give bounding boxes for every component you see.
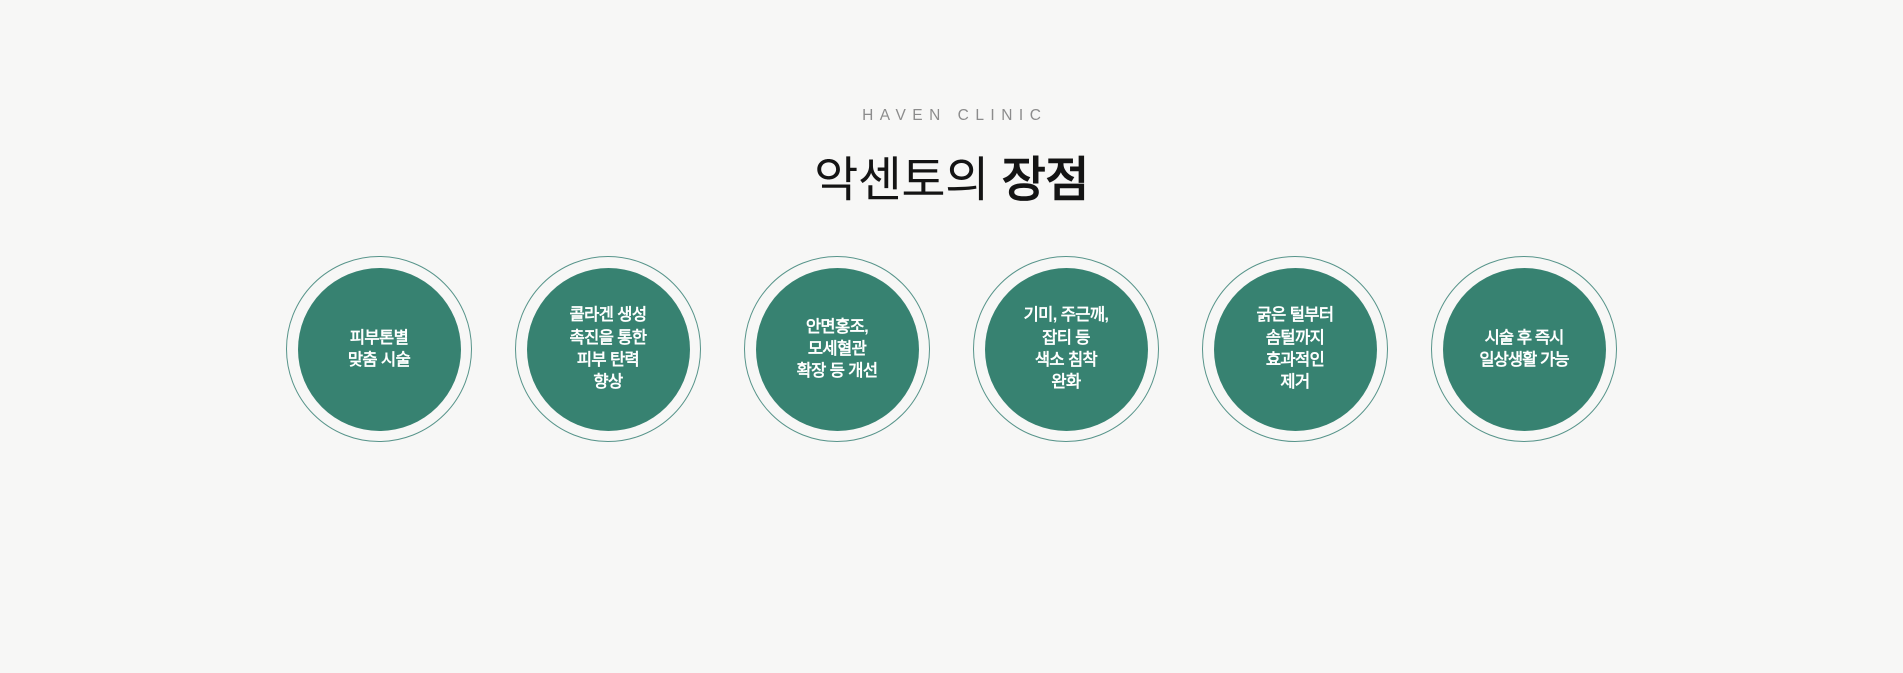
benefit-circle-2: 콜라겐 생성 촉진을 통한 피부 탄력 향상 xyxy=(515,256,701,442)
benefits-section: HAVEN CLINIC 악센토의 장점 피부톤별 맞춤 시술 콜라겐 생성 촉… xyxy=(0,0,1903,673)
brand-eyebrow: HAVEN CLINIC xyxy=(0,108,1903,124)
benefit-circle-3: 안면홍조, 모세혈관 확장 등 개선 xyxy=(744,256,930,442)
benefit-circle-2-fill: 콜라겐 생성 촉진을 통한 피부 탄력 향상 xyxy=(527,268,690,431)
benefit-circle-5-label: 굵은 털부터 솜털까지 효과적인 제거 xyxy=(1251,304,1340,393)
page-title-bold: 장점 xyxy=(1002,154,1089,207)
page-title: 악센토의 장점 xyxy=(0,153,1903,210)
benefit-circle-1-label: 피부톤별 맞춤 시술 xyxy=(342,327,416,372)
benefit-circle-4-label: 기미, 주근깨, 잡티 등 색소 침착 완화 xyxy=(1018,304,1115,393)
benefit-circle-3-label: 안면홍조, 모세혈관 확장 등 개선 xyxy=(791,316,884,383)
benefit-circle-5: 굵은 털부터 솜털까지 효과적인 제거 xyxy=(1202,256,1388,442)
benefit-circle-6-fill: 시술 후 즉시 일상생활 가능 xyxy=(1443,268,1606,431)
benefit-circle-4: 기미, 주근깨, 잡티 등 색소 침착 완화 xyxy=(973,256,1159,442)
section-header: HAVEN CLINIC 악센토의 장점 xyxy=(0,108,1903,241)
benefit-circle-6-label: 시술 후 즉시 일상생활 가능 xyxy=(1473,327,1574,372)
benefit-circle-3-fill: 안면홍조, 모세혈관 확장 등 개선 xyxy=(756,268,919,431)
benefit-circle-2-label: 콜라겐 생성 촉진을 통한 피부 탄력 향상 xyxy=(564,304,653,393)
benefit-circle-5-fill: 굵은 털부터 솜털까지 효과적인 제거 xyxy=(1214,268,1377,431)
benefit-circle-6: 시술 후 즉시 일상생활 가능 xyxy=(1431,256,1617,442)
page-title-light: 악센토의 xyxy=(814,154,1001,207)
benefit-circle-1-fill: 피부톤별 맞춤 시술 xyxy=(298,268,461,431)
benefit-circle-1: 피부톤별 맞춤 시술 xyxy=(286,256,472,442)
benefit-circle-row: 피부톤별 맞춤 시술 콜라겐 생성 촉진을 통한 피부 탄력 향상 안면홍조, … xyxy=(0,256,1903,442)
benefit-circle-4-fill: 기미, 주근깨, 잡티 등 색소 침착 완화 xyxy=(985,268,1148,431)
